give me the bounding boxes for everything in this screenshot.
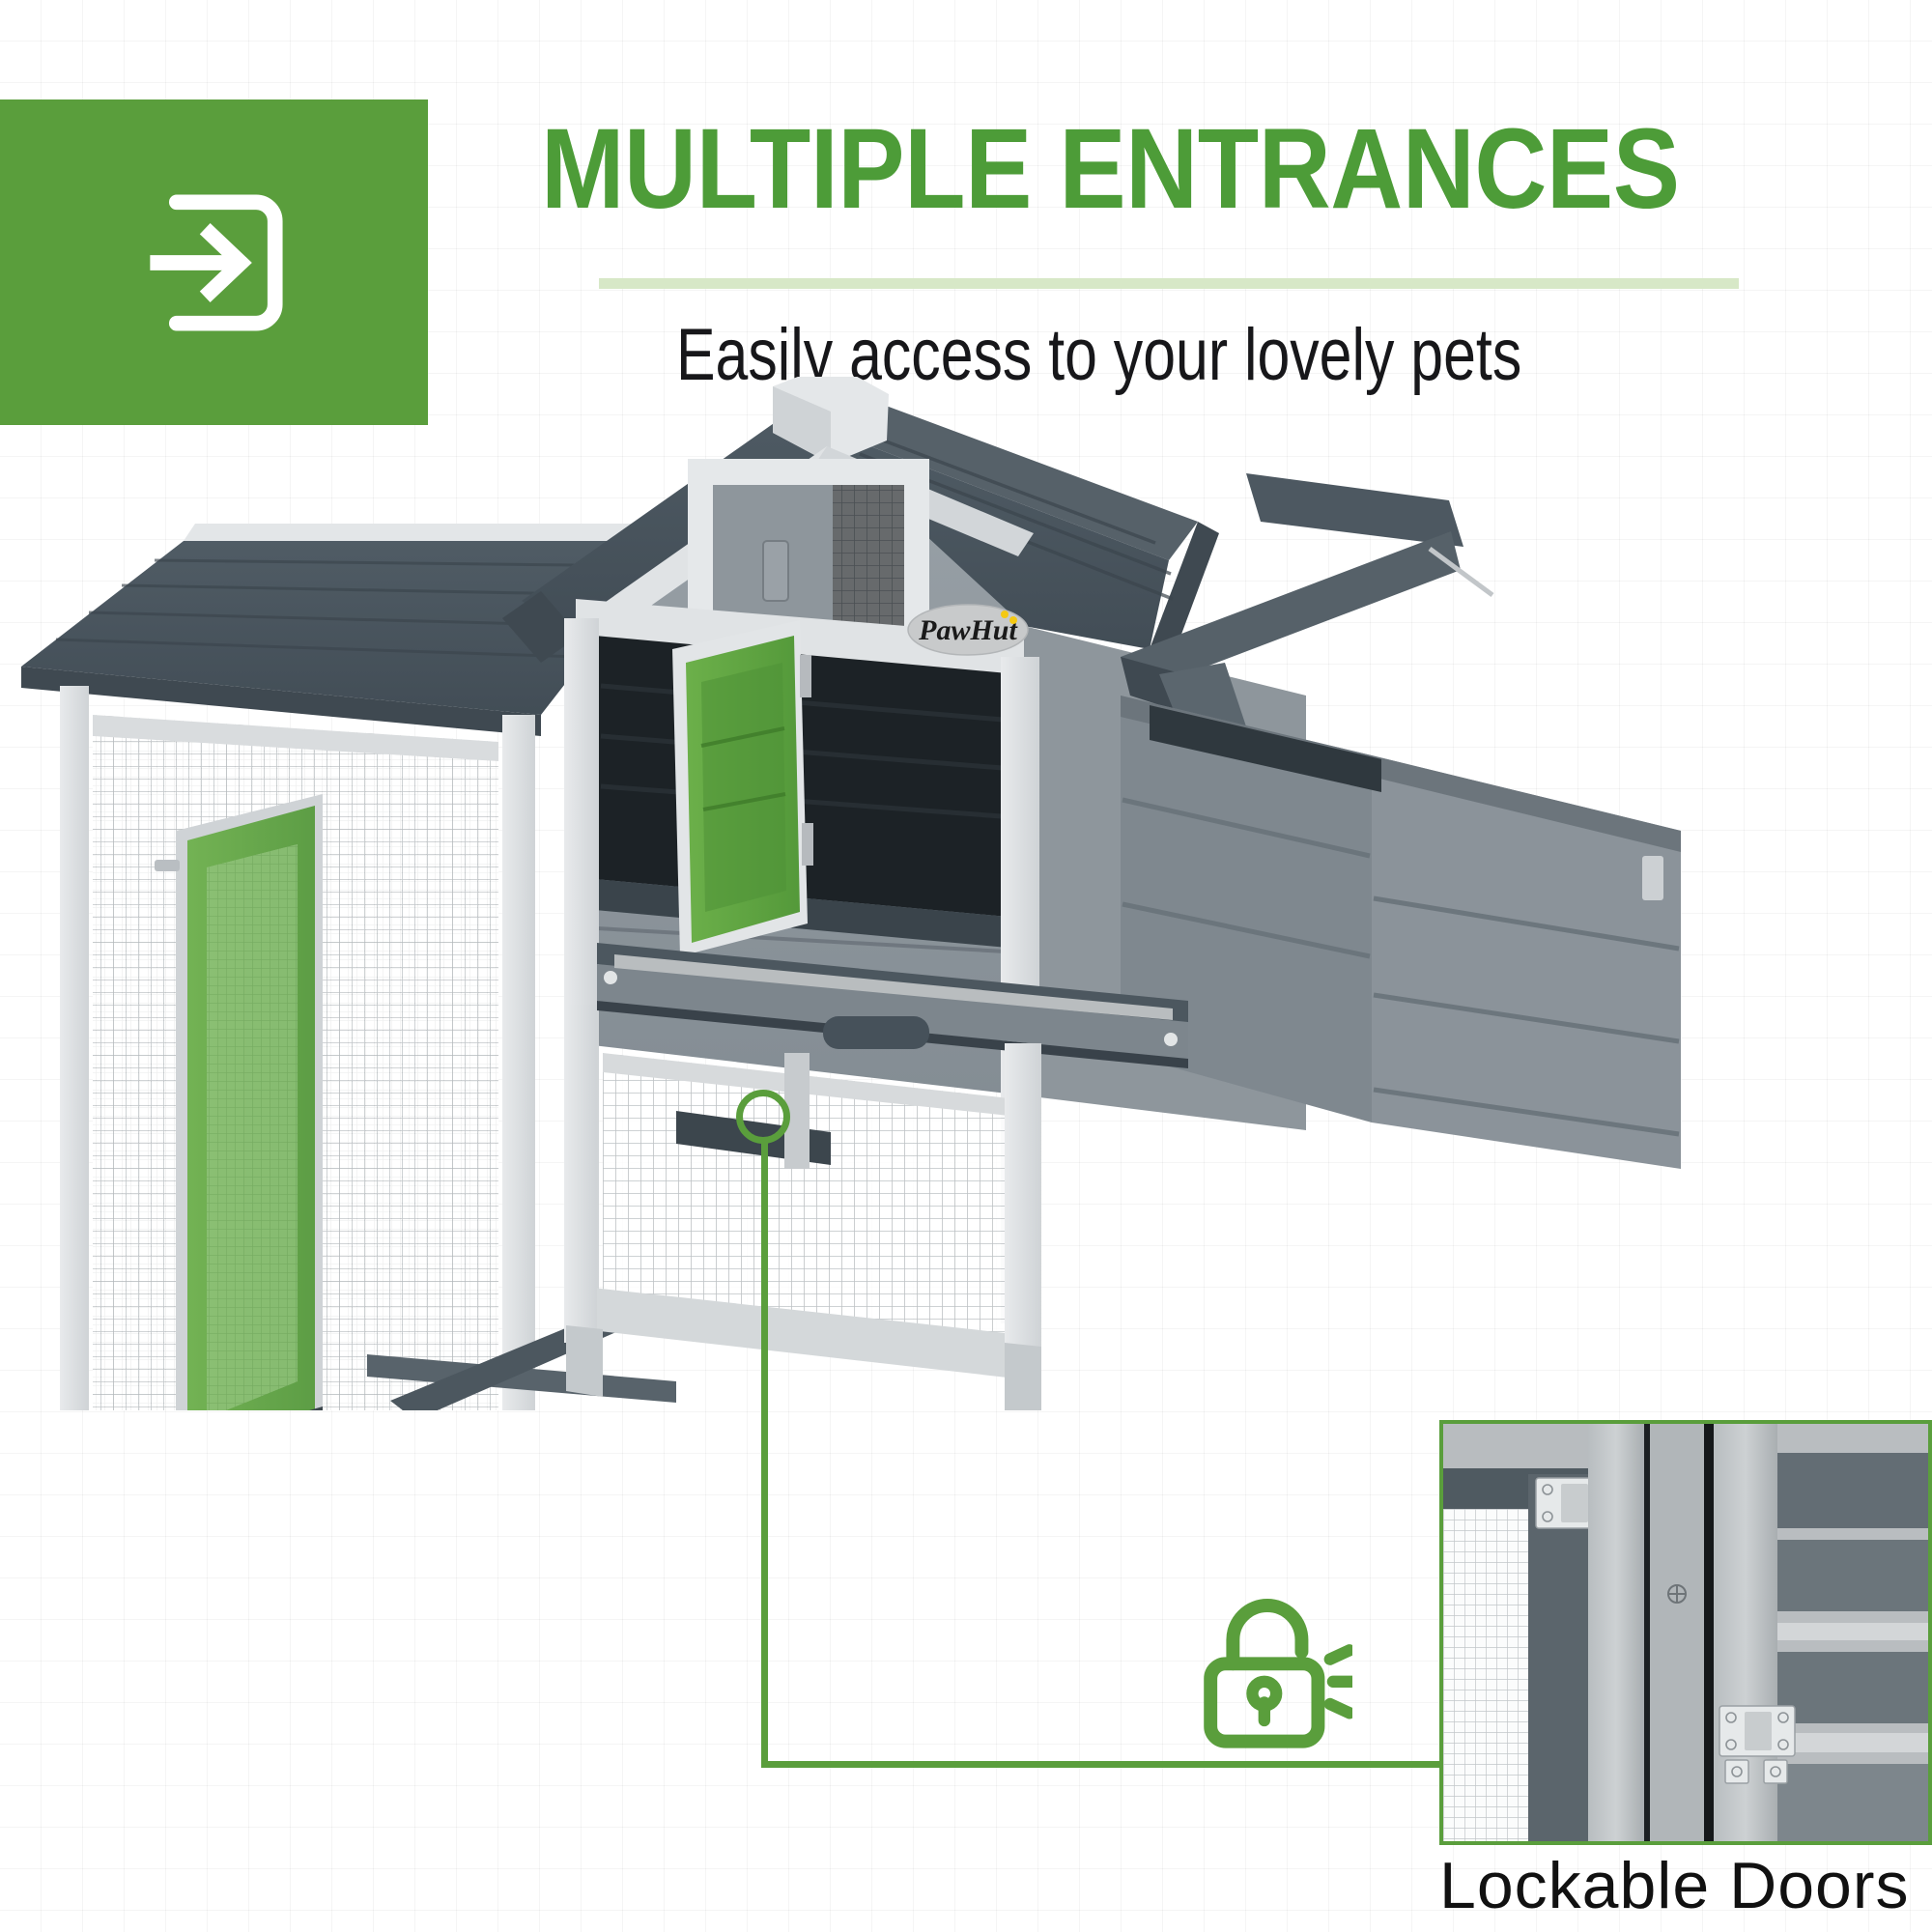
callout-connector-vertical xyxy=(761,1140,768,1768)
center-coop-door xyxy=(672,620,813,956)
callout-connector-horizontal xyxy=(761,1761,1442,1768)
nesting-box xyxy=(1121,473,1681,1169)
page-title: MULTIPLE ENTRANCES xyxy=(541,111,1612,227)
product-image: PawHut xyxy=(0,377,1816,1410)
title-divider xyxy=(599,278,1739,289)
left-run-door xyxy=(155,794,323,1410)
open-padlock-icon xyxy=(1188,1589,1352,1758)
inset-caption: Lockable Doors xyxy=(1439,1853,1932,1918)
brand-logo-text: PawHut xyxy=(918,614,1018,646)
enter-arrow-icon xyxy=(120,168,309,357)
marketing-feature-page: MULTIPLE ENTRANCES Easily access to your… xyxy=(0,0,1932,1932)
hinge-latch-callout-marker xyxy=(736,1090,790,1144)
hinge-closeup-inset xyxy=(1439,1420,1932,1845)
